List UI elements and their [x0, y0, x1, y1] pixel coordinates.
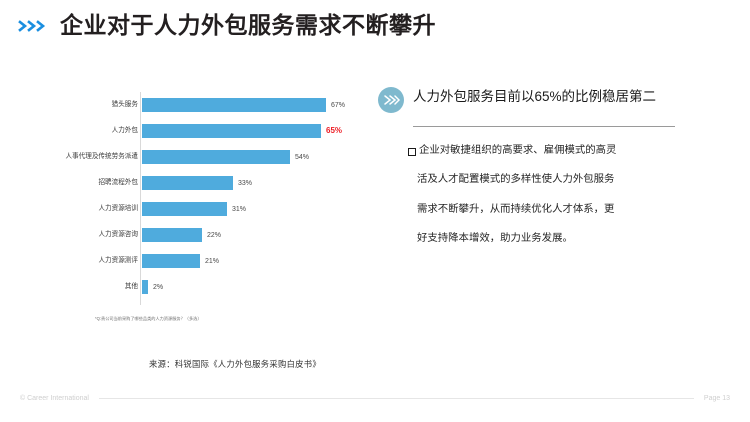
bar-value-label: 22%: [207, 232, 221, 239]
footer-copyright: © Career International: [20, 395, 89, 402]
chart-question-note: *Q:贵公司当前采购了哪些品类的人力资源服务？（多选）: [95, 316, 270, 322]
bar-track: 21%: [142, 248, 370, 274]
insight-body-line: 需求不断攀升，从而持续优化人才体系，更: [408, 205, 708, 215]
bar-track: 67%: [142, 92, 370, 118]
bar-category-label: 人力资源测评: [20, 258, 142, 265]
square-bullet-icon: [408, 148, 416, 156]
bar-fill: [142, 98, 326, 112]
insight-body-line: 企业对敏捷组织的高要求、雇佣模式的高灵: [408, 146, 708, 156]
chart-rows: 猎头服务 67% 人力外包 65% 人事代理及传统劳务派遣 54%: [20, 92, 370, 300]
bar-value-label: 21%: [205, 258, 219, 265]
circle-triple-chevron-icon: [378, 87, 404, 113]
bar-category-label: 人事代理及传统劳务派遣: [20, 154, 142, 161]
bar-fill: [142, 280, 148, 294]
bar-track: 22%: [142, 222, 370, 248]
insight-divider: [413, 126, 675, 127]
bar-track: 2%: [142, 274, 370, 300]
insight-body-line: 活及人才配置模式的多样性使人力外包服务: [408, 175, 708, 185]
bar-value-label: 67%: [331, 102, 345, 109]
bar-value-label: 31%: [232, 206, 246, 213]
bar-category-label: 人力资源咨询: [20, 232, 142, 239]
bar-fill: [142, 124, 321, 138]
footer-divider: [99, 398, 694, 399]
insight-body: 企业对敏捷组织的高要求、雇佣模式的高灵 活及人才配置模式的多样性使人力外包服务 …: [408, 146, 708, 245]
bar-value-label-highlight: 65%: [326, 127, 342, 135]
bar-category-label: 猎头服务: [20, 102, 142, 109]
bar-track: 65%: [142, 118, 370, 144]
chart-bar-row: 其他 2%: [20, 274, 370, 300]
bar-value-label: 2%: [153, 284, 163, 291]
chart-bar-row: 猎头服务 67%: [20, 92, 370, 118]
insight-body-text: 好支持降本增效，助力业务发展。: [417, 234, 573, 244]
insight-panel: 人力外包服务目前以65%的比例稳居第二 企业对敏捷组织的高要求、雇佣模式的高灵 …: [378, 86, 708, 264]
bar-track: 31%: [142, 196, 370, 222]
bar-value-label: 33%: [238, 180, 252, 187]
bar-chart: 猎头服务 67% 人力外包 65% 人事代理及传统劳务派遣 54%: [20, 92, 370, 307]
insight-body-text: 活及人才配置模式的多样性使人力外包服务: [417, 175, 614, 185]
bar-category-label: 招聘流程外包: [20, 180, 142, 187]
chart-bar-row: 人力资源咨询 22%: [20, 222, 370, 248]
bar-fill: [142, 176, 233, 190]
insight-body-line: 好支持降本增效，助力业务发展。: [408, 234, 708, 244]
chart-bar-row: 人力资源培训 31%: [20, 196, 370, 222]
bar-fill: [142, 254, 200, 268]
bar-category-label: 人力外包: [20, 128, 142, 135]
slide-header: 企业对于人力外包服务需求不断攀升: [18, 14, 436, 37]
chart-bar-row: 人事代理及传统劳务派遣 54%: [20, 144, 370, 170]
insight-heading: 人力外包服务目前以65%的比例稳居第二: [413, 86, 656, 106]
bar-track: 54%: [142, 144, 370, 170]
triple-chevron-right-icon: [18, 18, 50, 34]
bar-value-label: 54%: [295, 154, 309, 161]
chart-source: 来源：科锐国际《人力外包服务采购白皮书》: [0, 358, 470, 370]
chart-bar-row: 招聘流程外包 33%: [20, 170, 370, 196]
chart-bar-row: 人力资源测评 21%: [20, 248, 370, 274]
insight-heading-row: 人力外包服务目前以65%的比例稳居第二: [378, 86, 708, 113]
chart-bar-row: 人力外包 65%: [20, 118, 370, 144]
insight-body-text: 需求不断攀升，从而持续优化人才体系，更: [417, 205, 614, 215]
page-title: 企业对于人力外包服务需求不断攀升: [60, 14, 436, 37]
footer-page-number: Page 13: [704, 395, 730, 402]
bar-category-label: 其他: [20, 284, 142, 291]
bar-fill: [142, 202, 227, 216]
insight-body-text: 企业对敏捷组织的高要求、雇佣模式的高灵: [419, 146, 616, 156]
slide: 企业对于人力外包服务需求不断攀升 猎头服务 67% 人力外包 65% 人事代理及: [0, 0, 750, 422]
bar-category-label: 人力资源培训: [20, 206, 142, 213]
bar-fill: [142, 228, 202, 242]
slide-footer: © Career International Page 13: [0, 392, 750, 404]
bar-fill: [142, 150, 290, 164]
bar-track: 33%: [142, 170, 370, 196]
